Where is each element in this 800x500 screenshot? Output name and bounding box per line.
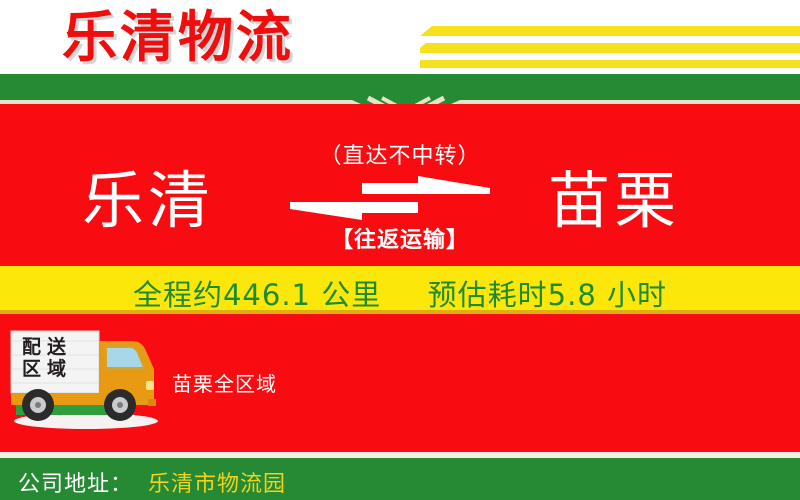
company-logo-text: 乐清物流 bbox=[62, 6, 294, 68]
coverage-area-text: 苗栗全区域 bbox=[172, 368, 277, 397]
logistics-banner: 乐清物流 乐清 苗栗 （直达不中转） 【往返运输】 全程约446.1 公里 预 bbox=[0, 0, 800, 500]
distance-text: 全程约446.1 公里 bbox=[133, 278, 381, 312]
address-label: 公司地址： bbox=[18, 466, 133, 498]
round-trip-note: 【往返运输】 bbox=[0, 222, 800, 254]
trip-info-row: 全程约446.1 公里 预估耗时5.8 小时 bbox=[0, 272, 800, 314]
duration-text: 预估耗时5.8 小时 bbox=[428, 278, 667, 312]
truck-box-label: 配送区域 bbox=[22, 336, 90, 380]
double-arrow-icon bbox=[290, 176, 490, 220]
diagonal-stripes-icon bbox=[420, 14, 800, 68]
address-value: 乐清市物流园 bbox=[148, 466, 286, 498]
direct-route-note: （直达不中转） bbox=[0, 138, 800, 170]
